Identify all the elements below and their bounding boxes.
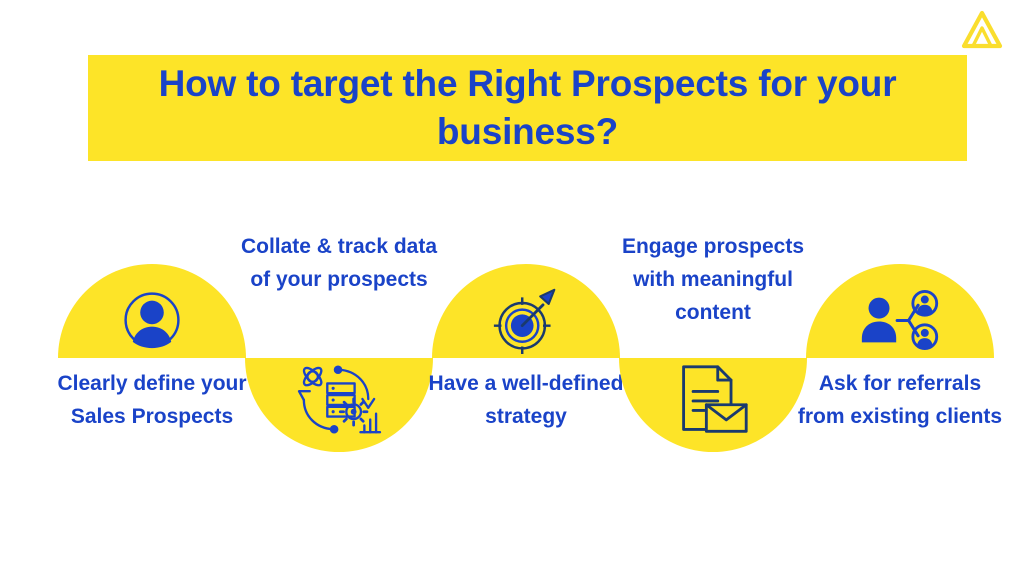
step-icon-slot [619, 360, 807, 440]
step-caption: Clearly define your Sales Prospects [48, 367, 256, 433]
step-icon-slot [58, 282, 246, 358]
step-ask-for-referrals: Ask for referrals from existing clients [806, 230, 994, 530]
step-caption: Have a well-defined strategy [422, 367, 630, 433]
step-caption: Ask for referrals from existing clients [796, 367, 1004, 433]
step-collate-track-data: Collate & track data of your prospects [245, 230, 433, 530]
data-analytics-icon [299, 365, 380, 432]
step-caption: Engage prospects with meaningful content [609, 230, 817, 329]
step-well-defined-strategy: Have a well-defined strategy [432, 230, 620, 530]
referral-network-icon [862, 291, 937, 348]
user-avatar-icon-fill [133, 301, 171, 348]
step-caption: Collate & track data of your prospects [235, 230, 443, 296]
title-banner: How to target the Right Prospects for yo… [88, 55, 967, 161]
step-icon-slot [432, 282, 620, 358]
steps-wave: Clearly define your Sales Prospects Coll… [0, 230, 1024, 530]
mountain-a-logo-icon [964, 13, 1000, 46]
step-define-prospects: Clearly define your Sales Prospects [58, 230, 246, 530]
brand-logo [958, 8, 1006, 52]
document-envelope-icon [684, 367, 747, 432]
page-title: How to target the Right Prospects for yo… [102, 60, 953, 156]
step-icon-slot [806, 282, 994, 358]
step-engage-with-content: Engage prospects with meaningful content [619, 230, 807, 530]
step-icon-slot [245, 360, 433, 440]
target-arrow-icon [494, 290, 554, 354]
